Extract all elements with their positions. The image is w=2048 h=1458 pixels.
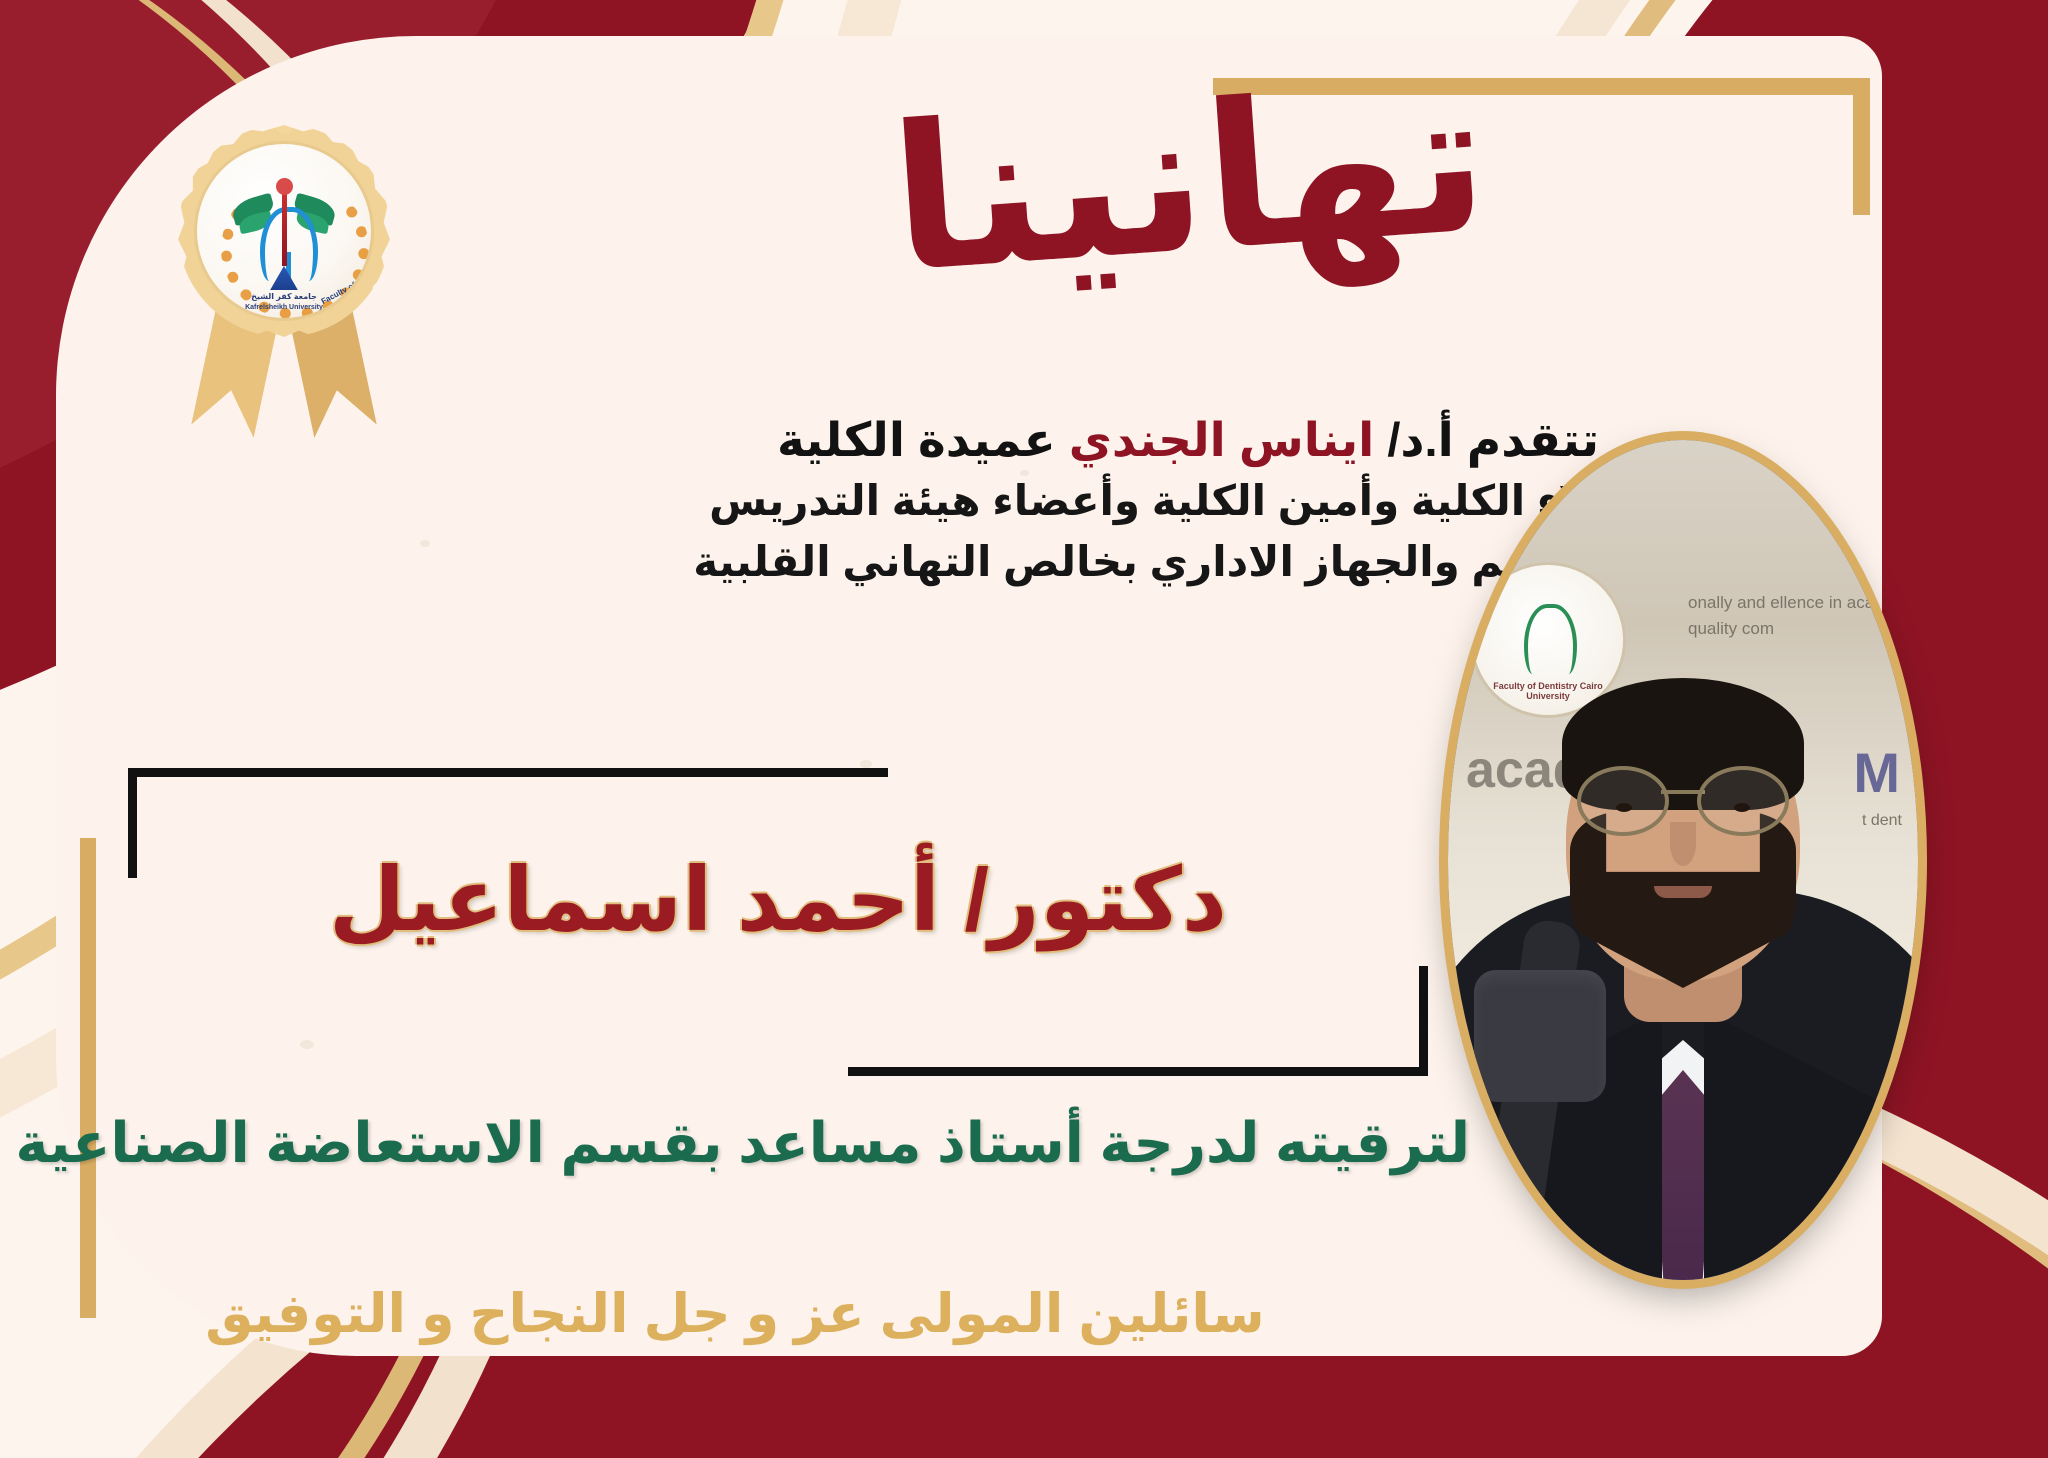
frame-edge-top (128, 768, 888, 777)
closing-text: سائلين المولى عز و جل النجاح و التوفيق (80, 1282, 1390, 1345)
photo-eye-right (1734, 803, 1750, 812)
photo-nose (1670, 822, 1696, 866)
dean-role: عميدة الكلية (777, 413, 1056, 466)
photo-mouth (1654, 886, 1712, 898)
honoree-name: دكتور/ أحمد اسماعيل (128, 848, 1428, 951)
photo-bag (1474, 970, 1606, 1102)
badge-university-ar: جامعة كفر الشيخ (197, 292, 371, 301)
glasses-lens-left (1577, 766, 1669, 836)
backdrop-word-dent: t dent (1862, 812, 1902, 830)
paper-speck (860, 760, 872, 768)
glasses-lens-right (1697, 766, 1789, 836)
frame-edge-bottom (848, 1067, 1428, 1076)
university-badge: Faculty of Oral & Dental Medicine جامعة … (178, 125, 390, 337)
promotion-text: لترقيته لدرجة أستاذ مساعد بقسم الاستعاضة… (110, 1110, 1470, 1176)
paper-speck (420, 540, 430, 547)
backdrop-word-m: M (1853, 740, 1900, 805)
backdrop-text: onally and ellence in acad quality com (1688, 590, 1908, 641)
dean-name: ايناس الجندي (1069, 413, 1375, 466)
badge-university-en: Kafrelsheikh University (197, 304, 371, 311)
page-title-calligraphy: تهانينا (918, 21, 1498, 359)
congratulations-poster: Faculty of Oral & Dental Medicine جامعة … (0, 0, 2048, 1458)
frame-edge-bottom-right (1419, 966, 1428, 1076)
honoree-frame: دكتور/ أحمد اسماعيل (128, 768, 1428, 1076)
photo-glasses-icon (1577, 766, 1789, 828)
badge-disc: Faculty of Oral & Dental Medicine جامعة … (194, 141, 374, 321)
photo-eye-left (1616, 803, 1632, 812)
honoree-photo: Faculty of Dentistry Cairo University on… (1448, 440, 1918, 1280)
